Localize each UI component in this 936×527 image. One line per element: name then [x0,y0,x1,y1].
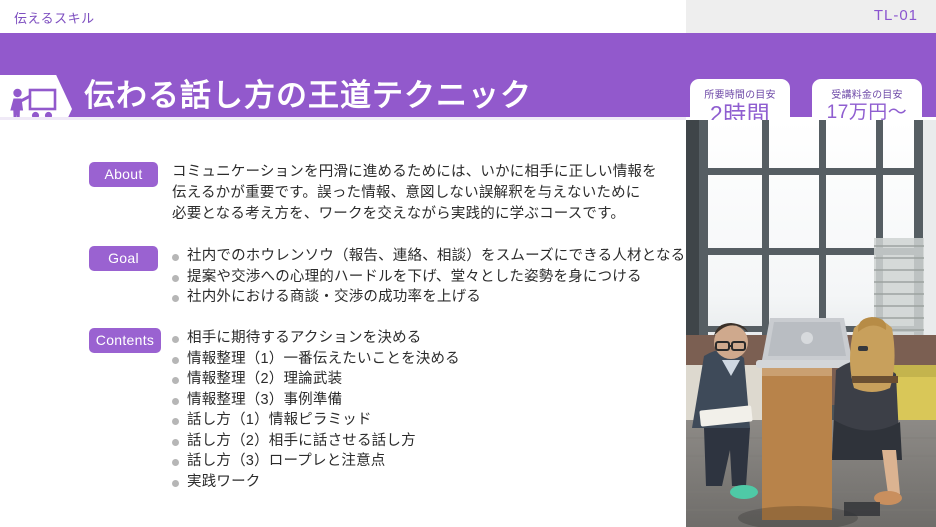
list-item: 提案や交渉への心理的ハードルを下げ、堂々とした姿勢を身につける [172,267,685,288]
content-area: About コミュニケーションを円滑に進めるためには、いかに相手に正しい情報を … [0,120,686,527]
list-item: 話し方（3）ロープレと注意点 [172,451,460,472]
page-title: 伝わる話し方の王道テクニック [84,78,532,114]
top-bar: 伝えるスキル TL-01 [0,0,936,33]
breadcrumb[interactable]: 伝えるスキル [14,8,95,27]
section-tag-contents: Contents [89,328,161,353]
about-body: コミュニケーションを円滑に進めるためには、いかに相手に正しい情報を 伝えるかが重… [172,162,657,225]
course-code-label: TL-01 [874,7,918,24]
list-item: 相手に期待するアクションを決める [172,328,460,349]
list-item: 情報整理（3）事例準備 [172,390,460,411]
section-contents: Contents 相手に期待するアクションを決める 情報整理（1）一番伝えたいこ… [89,328,161,353]
section-tag-about: About [89,162,158,187]
section-goal: Goal 社内でのホウレンソウ（報告、連絡、相談）をスムーズにできる人材となる … [89,246,158,271]
list-item: 話し方（1）情報ピラミッド [172,410,460,431]
section-tag-goal: Goal [89,246,158,271]
section-about: About コミュニケーションを円滑に進めるためには、いかに相手に正しい情報を … [89,162,158,187]
list-item: 話し方（2）相手に話させる話し方 [172,431,460,452]
list-item: 情報整理（1）一番伝えたいことを決める [172,349,460,370]
duration-badge-caption: 所要時間の目安 [690,86,790,101]
list-item: 社内でのホウレンソウ（報告、連絡、相談）をスムーズにできる人材となる [172,246,685,267]
list-item: 社内外における商談・交渉の成功率を上げる [172,287,685,308]
contents-body: 相手に期待するアクションを決める 情報整理（1）一番伝えたいことを決める 情報整… [172,328,460,492]
fee-badge-caption: 受講料金の目安 [812,86,922,101]
list-item: 実践ワーク [172,472,460,493]
about-line: 伝えるかが重要です。誤った情報、意図しない誤解釈を与えないために [172,183,657,204]
about-line: 必要となる考え方を、ワークを交えながら実践的に学ぶコースです。 [172,204,657,225]
list-item: 情報整理（2）理論武装 [172,369,460,390]
about-line: コミュニケーションを円滑に進めるためには、いかに相手に正しい情報を [172,162,657,183]
goal-body: 社内でのホウレンソウ（報告、連絡、相談）をスムーズにできる人材となる 提案や交渉… [172,246,685,308]
header-band: 伝わる話し方の王道テクニック Effective Speaking 所要時間の目… [0,33,936,117]
meeting-photo [686,120,936,527]
